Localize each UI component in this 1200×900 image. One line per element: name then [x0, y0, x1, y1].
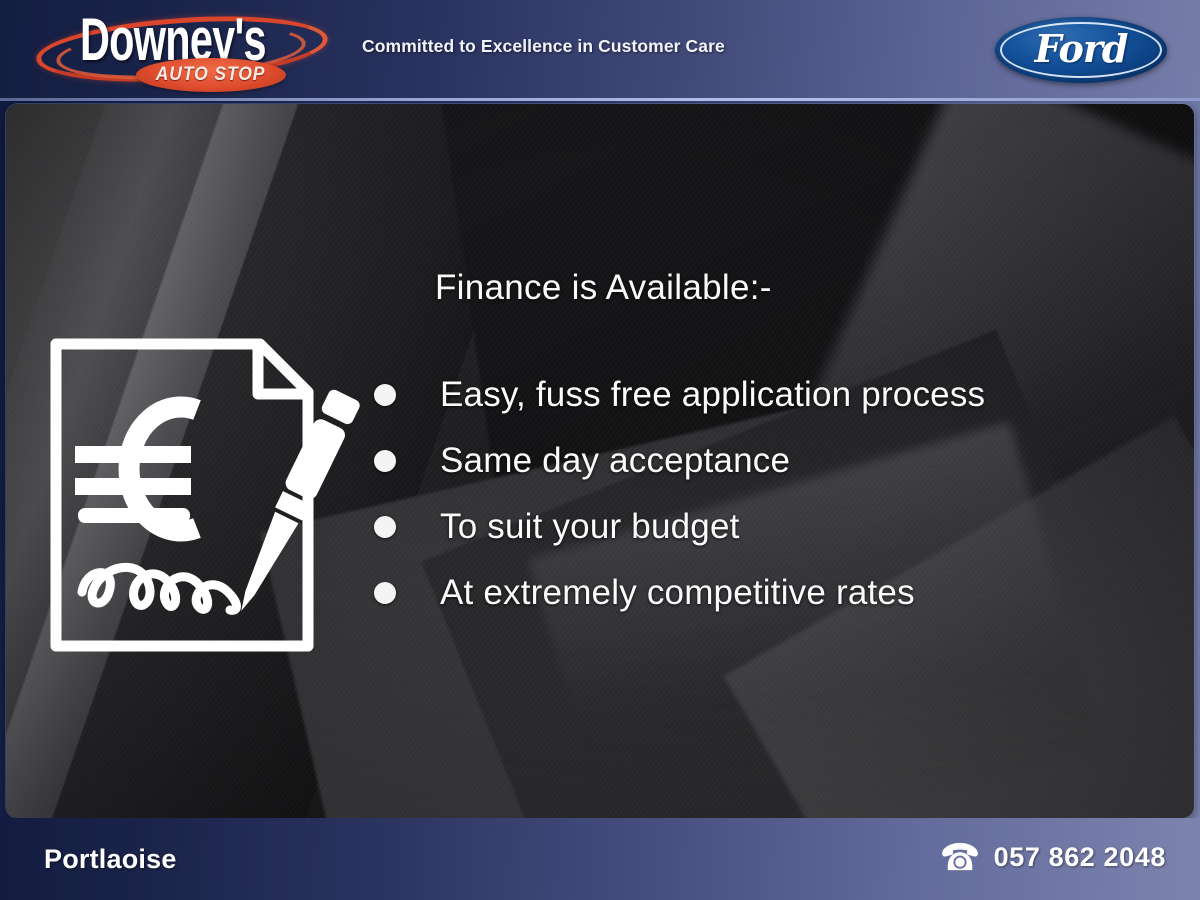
list-item: At extremely competitive rates: [374, 560, 985, 626]
page-title: Finance is Available:-: [435, 268, 772, 308]
logo-pill: AUTO STOP: [136, 58, 286, 92]
list-item-label: Easy, fuss free application process: [440, 375, 985, 415]
bullet-dot-icon: [374, 516, 396, 538]
main-panel: Finance is Available:- Easy, fuss free a…: [6, 104, 1194, 818]
panel-content: Finance is Available:- Easy, fuss free a…: [6, 104, 1194, 818]
tagline-text: Committed to Excellence in Customer Care: [362, 36, 725, 57]
footer-bar: Portlaoise 057 862 2048: [0, 818, 1200, 900]
finance-benefits-list: Easy, fuss free application process Same…: [374, 362, 985, 626]
telephone-icon: [941, 841, 979, 873]
bullet-dot-icon: [374, 384, 396, 406]
phone-number-text: 057 862 2048: [994, 842, 1166, 873]
ford-oval-logo[interactable]: Ford: [995, 17, 1167, 83]
list-item-label: Same day acceptance: [440, 441, 790, 481]
bullet-dot-icon: [374, 582, 396, 604]
list-item-label: At extremely competitive rates: [440, 573, 915, 613]
header-bar: Downey's AUTO STOP Committed to Excellen…: [0, 0, 1200, 101]
list-item-label: To suit your budget: [440, 507, 740, 547]
bullet-dot-icon: [374, 450, 396, 472]
ford-brand-text: Ford: [1035, 26, 1128, 71]
list-item: Easy, fuss free application process: [374, 362, 985, 428]
dealer-sub-text: AUTO STOP: [156, 64, 266, 86]
phone-contact[interactable]: 057 862 2048: [941, 841, 1166, 873]
location-label: Portlaoise: [44, 844, 177, 875]
downeys-auto-stop-logo[interactable]: Downey's AUTO STOP: [28, 4, 338, 98]
list-item: Same day acceptance: [374, 428, 985, 494]
finance-advertisement-banner: Downey's AUTO STOP Committed to Excellen…: [0, 0, 1200, 900]
document-euro-signature-pen-icon: [42, 330, 372, 660]
list-item: To suit your budget: [374, 494, 985, 560]
